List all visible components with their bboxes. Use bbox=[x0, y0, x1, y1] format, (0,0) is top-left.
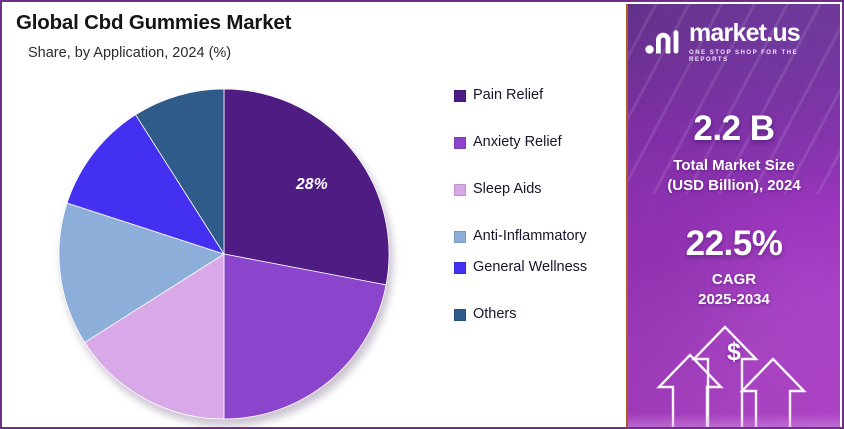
stats-panel: market.us ONE STOP SHOP FOR THE REPORTS … bbox=[626, 4, 840, 429]
pie-slice-label-pain-relief: 28% bbox=[296, 176, 328, 194]
logo-text-block: market.us ONE STOP SHOP FOR THE REPORTS bbox=[689, 21, 840, 63]
legend-label-pain-relief: Pain Relief bbox=[473, 86, 543, 105]
market-size-caption-line-2: (USD Billion), 2024 bbox=[628, 176, 840, 196]
legend-item-anti-inflammatory[interactable]: Anti-Inflammatory bbox=[454, 227, 630, 246]
chart-legend: Pain Relief Anxiety Relief Sleep Aids An… bbox=[454, 86, 630, 352]
pie-chart: 28% bbox=[58, 88, 390, 420]
market-us-logo[interactable]: market.us ONE STOP SHOP FOR THE REPORTS bbox=[645, 21, 840, 63]
market-size-caption-line-1: Total Market Size bbox=[628, 156, 840, 176]
legend-item-general-wellness[interactable]: General Wellness bbox=[454, 258, 630, 277]
panel-bottom-glow bbox=[628, 413, 840, 429]
legend-item-sleep-aids[interactable]: Sleep Aids bbox=[454, 180, 630, 199]
logo-tagline: ONE STOP SHOP FOR THE REPORTS bbox=[689, 49, 840, 63]
bar-chart-logo-icon bbox=[645, 27, 683, 57]
market-size-value: 2.2 B bbox=[628, 109, 840, 149]
legend-swatch-pain-relief bbox=[454, 90, 466, 102]
legend-swatch-anxiety-relief bbox=[454, 137, 466, 149]
legend-label-sleep-aids: Sleep Aids bbox=[473, 180, 542, 199]
legend-label-others: Others bbox=[473, 305, 517, 324]
chart-panel: Global Cbd Gummies Market Share, by Appl… bbox=[2, 2, 630, 427]
legend-item-pain-relief[interactable]: Pain Relief bbox=[454, 86, 630, 105]
legend-item-anxiety-relief[interactable]: Anxiety Relief bbox=[454, 133, 630, 152]
legend-label-general-wellness: General Wellness bbox=[473, 258, 587, 277]
legend-swatch-others bbox=[454, 309, 466, 321]
cagr-value: 22.5% bbox=[628, 224, 840, 264]
legend-label-anti-inflammatory: Anti-Inflammatory bbox=[473, 227, 587, 246]
infographic-root: Global Cbd Gummies Market Share, by Appl… bbox=[0, 0, 844, 429]
legend-item-others[interactable]: Others bbox=[454, 305, 630, 324]
cagr-caption-line-1: CAGR bbox=[628, 270, 840, 290]
legend-swatch-general-wellness bbox=[454, 262, 466, 274]
legend-swatch-sleep-aids bbox=[454, 184, 466, 196]
market-size-caption: Total Market Size (USD Billion), 2024 bbox=[628, 156, 840, 196]
legend-swatch-anti-inflammatory bbox=[454, 231, 466, 243]
legend-label-anxiety-relief: Anxiety Relief bbox=[473, 133, 562, 152]
growth-arrows-icon bbox=[628, 299, 840, 429]
pie-slices bbox=[58, 88, 390, 420]
logo-wordmark: market.us bbox=[689, 21, 840, 46]
page-subtitle: Share, by Application, 2024 (%) bbox=[28, 45, 231, 61]
page-title: Global Cbd Gummies Market bbox=[16, 11, 291, 35]
